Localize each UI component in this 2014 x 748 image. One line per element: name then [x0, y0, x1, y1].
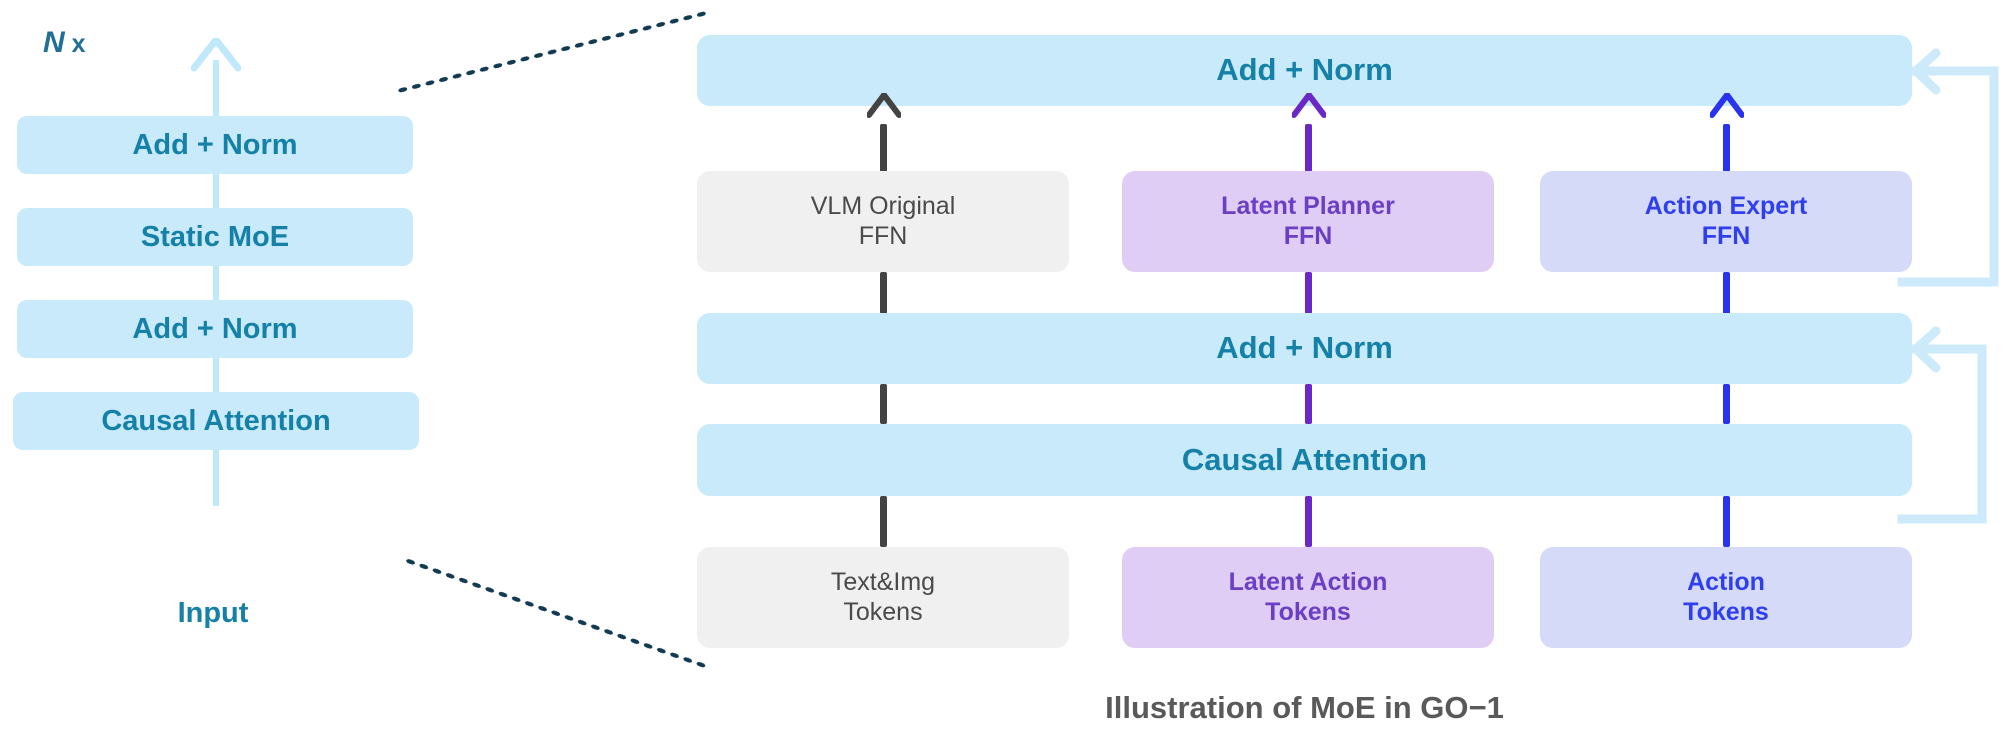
- lane-segment-addnorm-to-latent: [1305, 272, 1312, 314]
- repeat-count-x: x: [65, 30, 86, 58]
- ffn-box-vlm-original[interactable]: VLM Original FFN: [697, 171, 1069, 272]
- token-box-latent-action[interactable]: Latent Action Tokens: [1122, 547, 1494, 648]
- right-bar-causal-attention[interactable]: Causal Attention: [697, 424, 1912, 496]
- ffn-box-action-expert[interactable]: Action Expert FFN: [1540, 171, 1912, 272]
- left-block-causal-attention[interactable]: Causal Attention: [13, 392, 419, 450]
- up-arrow-icon-action-expert: [1710, 93, 1744, 125]
- ffn-box-latent-planner[interactable]: Latent Planner FFN: [1122, 171, 1494, 272]
- left-spine-segment: [213, 60, 219, 120]
- left-spine-segment: [213, 450, 219, 506]
- lane-segment-causal-to-addnorm-action: [1723, 384, 1730, 424]
- lane-segment-tokens-to-causal-latent: [1305, 496, 1312, 547]
- lane-segment-causal-to-addnorm-vlm: [880, 384, 887, 424]
- left-spine-segment: [213, 358, 219, 394]
- token-box-text-img[interactable]: Text&Img Tokens: [697, 547, 1069, 648]
- dotted-connector-top: [395, 10, 707, 95]
- left-block-add-norm-bottom[interactable]: Add + Norm: [17, 300, 413, 358]
- up-arrow-icon-latent-planner: [1292, 93, 1326, 125]
- left-spine-segment: [213, 266, 219, 302]
- left-spine-segment: [213, 174, 219, 210]
- token-box-action[interactable]: Action Tokens: [1540, 547, 1912, 648]
- repeat-count-label: N x: [43, 26, 86, 60]
- lane-segment-action-to-addnorm: [1723, 124, 1730, 172]
- lane-segment-vlm-to-addnorm: [880, 124, 887, 172]
- left-block-static-moe[interactable]: Static MoE: [17, 208, 413, 266]
- repeat-count-n: N: [43, 26, 65, 59]
- lane-segment-causal-to-addnorm-latent: [1305, 384, 1312, 424]
- figure-canvas: N x Add + Norm Static MoE Add + Norm Cau…: [0, 0, 2014, 748]
- lane-segment-addnorm-to-vlm: [880, 272, 887, 314]
- figure-caption: Illustration of MoE in GO−1: [697, 690, 1912, 726]
- right-bar-add-norm-mid[interactable]: Add + Norm: [697, 313, 1912, 384]
- lane-segment-addnorm-to-action: [1723, 272, 1730, 314]
- input-label: Input: [93, 597, 333, 630]
- up-arrow-icon-vlm: [867, 93, 901, 125]
- dotted-connector-bottom: [403, 556, 707, 669]
- lane-segment-tokens-to-causal-vlm: [880, 496, 887, 547]
- lane-segment-latent-to-addnorm: [1305, 124, 1312, 172]
- left-block-add-norm-top[interactable]: Add + Norm: [17, 116, 413, 174]
- lane-segment-tokens-to-causal-action: [1723, 496, 1730, 547]
